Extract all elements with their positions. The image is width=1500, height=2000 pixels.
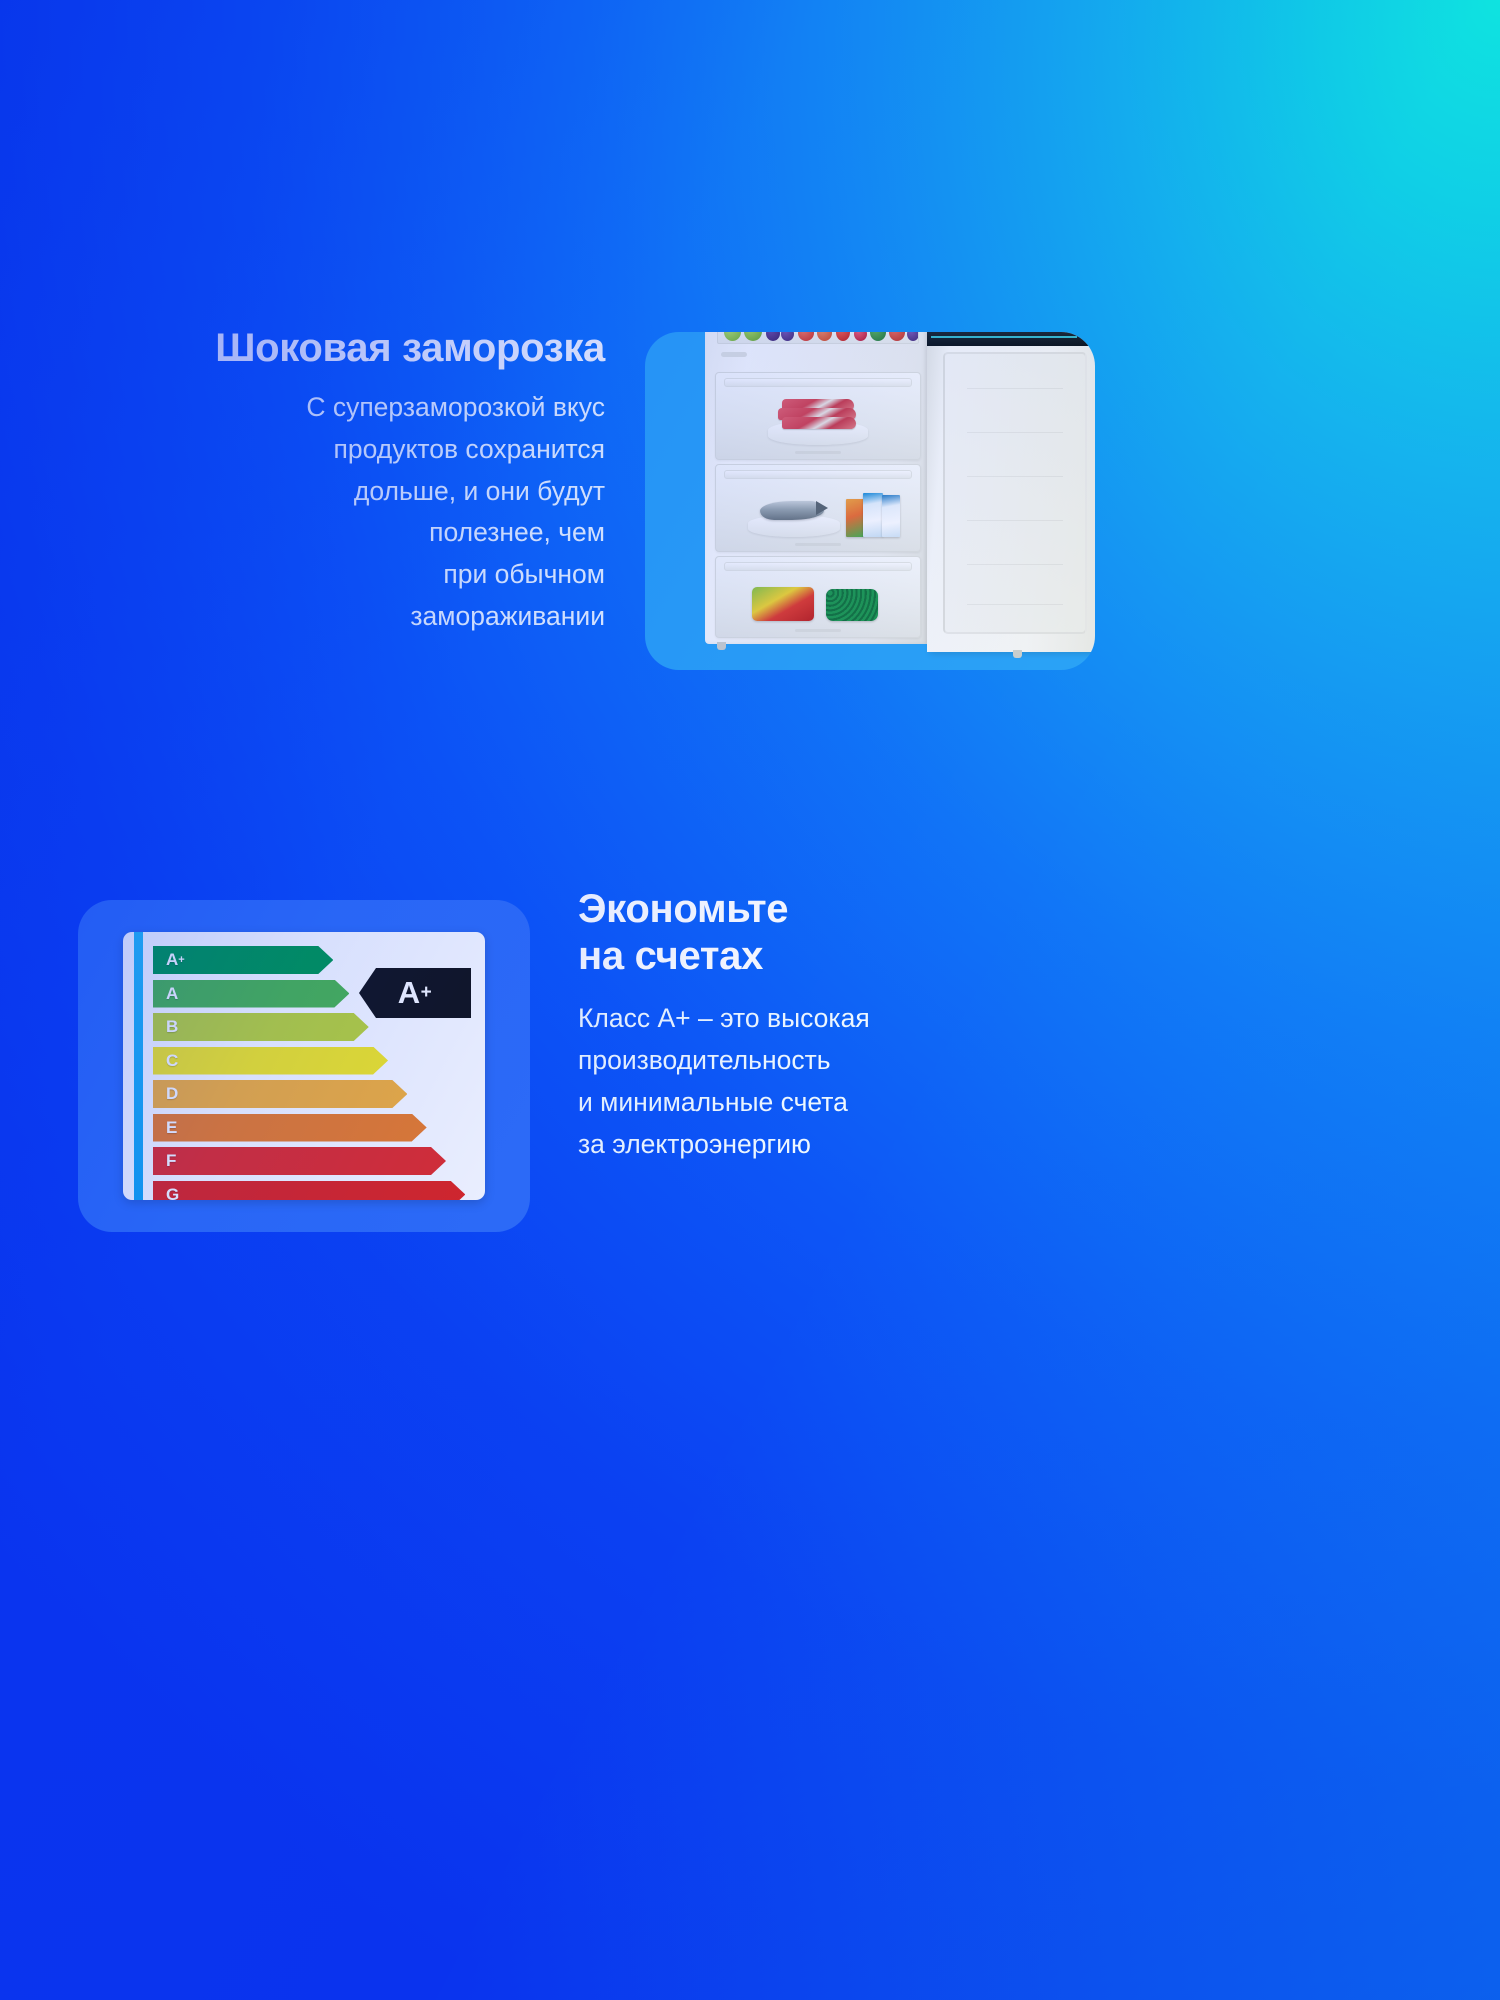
energy-bar-letter: F [166,1151,176,1171]
energy-bar-e: E [153,1114,427,1142]
energy-bar-letter: A [166,950,178,970]
shock-freeze-description: С суперзаморозкой вкус продуктов сохрани… [60,387,605,638]
description-line: производительность [578,1040,1198,1082]
food-meat-steak [782,417,856,429]
produce-item-apple [889,332,905,341]
shock-freeze-text-group: Шоковая заморозка С суперзаморозкой вкус… [60,326,605,638]
drawer-lip [724,470,912,479]
fridge-door-panel [943,352,1087,634]
energy-bar-d: D [153,1080,407,1108]
door-rib [967,604,1063,605]
description-line: С суперзаморозкой вкус [60,387,605,429]
refrigerator-illustration [705,332,1095,670]
door-rib [967,388,1063,389]
shock-freeze-title: Шоковая заморозка [60,326,605,371]
energy-text-group: Экономьте на счетах Класс A+ – это высок… [578,886,1198,1166]
produce-item-grape [781,332,794,341]
produce-item-pepper [836,332,850,341]
energy-bar-row: D [153,1080,475,1108]
energy-bar-letter: B [166,1017,178,1037]
energy-title-line: Экономьте [578,886,1198,933]
energy-bar-letter: D [166,1084,178,1104]
energy-bar-row: F [153,1147,475,1175]
food-juice-carton [846,499,864,537]
description-line: замораживании [60,596,605,638]
produce-item-broccoli [870,332,886,341]
energy-bar-b: B [153,1013,369,1041]
fridge-door-open [927,332,1095,652]
freezer-drawer [715,464,921,552]
fridge-door-foot [1013,650,1022,658]
energy-bar-letter: A [166,984,178,1004]
food-fish-tail [816,501,828,515]
produce-item-apple [744,332,762,341]
description-line: дольше, и они будут [60,471,605,513]
energy-image-card: A+ A B C [78,900,530,1232]
fridge-top-basket [717,332,919,344]
energy-bar-a-plus: A+ [153,946,333,974]
energy-efficiency-label: A+ A B C [123,932,485,1200]
energy-description: Класс A+ – это высокая производительност… [578,998,1198,1165]
description-line: продуктов сохранится [60,429,605,471]
drawer-handle [795,629,841,632]
energy-bar-a: A [153,980,349,1008]
energy-bar-letter: G [166,1185,179,1201]
feature-block-shock-freeze: Шоковая заморозка С суперзаморозкой вкус… [0,300,1500,700]
energy-title: Экономьте на счетах [578,886,1198,980]
door-rib [967,564,1063,565]
banner-canvas: Шоковая заморозка С суперзаморозкой вкус… [0,0,1500,2000]
energy-grade-letter: A [398,975,421,1011]
food-frozen-veg-bag [752,587,814,621]
energy-bar-f: F [153,1147,446,1175]
produce-item-berry [854,332,867,341]
description-line: при обычном [60,554,605,596]
fridge-door-seal-highlight [931,336,1077,338]
drawer-lip [724,562,912,571]
produce-item-grape [907,332,919,341]
fridge-cabinet [705,332,927,644]
food-milk-carton [863,493,883,537]
description-line: полезнее, чем [60,512,605,554]
energy-bar-row: C [153,1047,475,1075]
shock-freeze-image-card [645,332,1095,670]
drawer-lip [724,378,912,387]
food-fish [760,501,824,520]
energy-bar-row: G [153,1181,475,1201]
energy-title-line: на счетах [578,933,1198,980]
energy-bar-g: G [153,1181,465,1201]
description-line: и минимальные счета [578,1082,1198,1124]
produce-item-apple [724,332,741,341]
produce-item-grape [766,332,780,341]
fridge-control-strip [721,352,747,357]
energy-bar-letter: E [166,1118,177,1138]
fridge-foot [717,642,726,650]
description-line: за электроэнергию [578,1124,1198,1166]
food-milk-carton [882,495,900,537]
door-rib [967,432,1063,433]
door-rib [967,476,1063,477]
produce-item-tomato [817,332,832,341]
energy-bar-row: E [153,1114,475,1142]
drawer-handle [795,451,841,454]
door-rib [967,520,1063,521]
freezer-drawer [715,556,921,638]
produce-item-tomato [798,332,814,341]
fridge-door-seal [927,332,1095,346]
feature-block-energy-saving: A+ A B C [0,880,1500,1280]
description-line: Класс A+ – это высокая [578,998,1198,1040]
energy-bar-letter: C [166,1051,178,1071]
energy-grade-badge: A+ [359,968,471,1018]
energy-bar-c: C [153,1047,388,1075]
freezer-drawer [715,372,921,460]
food-green-peas [826,589,878,621]
drawer-handle [795,543,841,546]
